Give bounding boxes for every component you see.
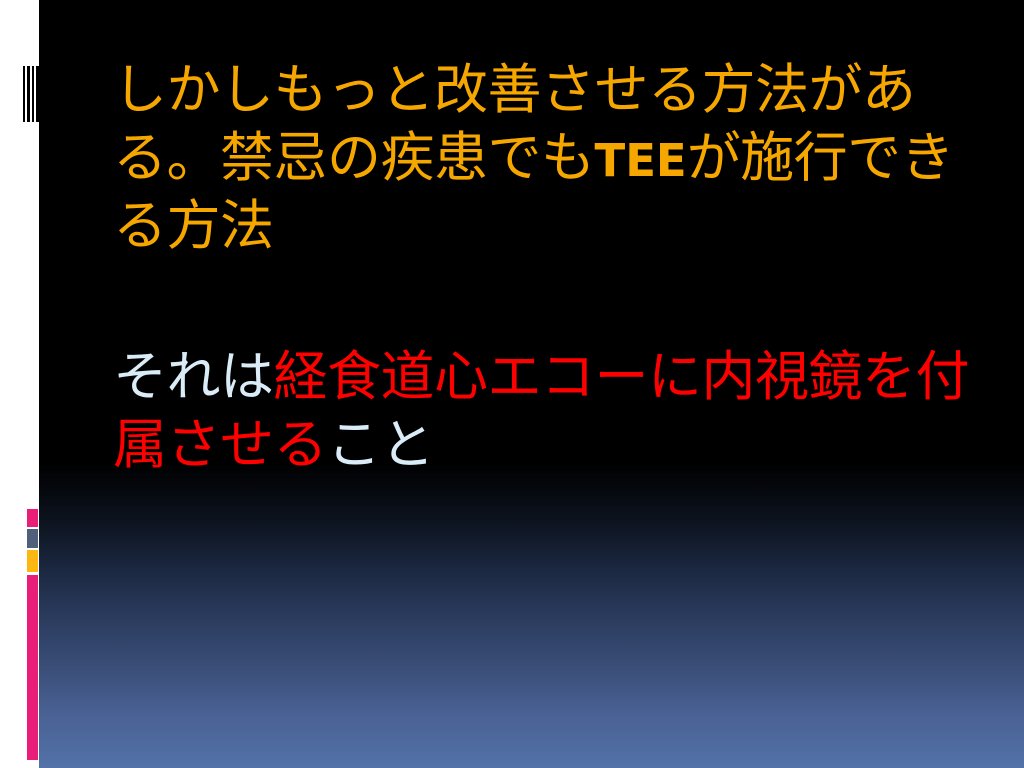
accent-block-pink-top: [27, 509, 38, 527]
paragraph-spacer: [113, 259, 973, 343]
barcode-bar-1: [23, 66, 25, 122]
paragraph-blue-red: それは経食道心エコーに内視鏡を付属させること: [113, 343, 973, 479]
barcode-bar-4: [36, 66, 39, 122]
accent-block-pink-long: [27, 575, 38, 760]
paragraph-blue-segment-a: それは: [113, 345, 274, 408]
accent-block-gold: [27, 550, 38, 572]
barcode-stripes-decoration: [23, 66, 39, 122]
slide-canvas: しかしもっと改善させる方法がある。禁忌の疾患でもTEEが施行できる方法 それは経…: [0, 0, 1024, 768]
paragraph-blue-segment-b: こと: [327, 413, 434, 476]
slide-body-text: しかしもっと改善させる方法がある。禁忌の疾患でもTEEが施行できる方法 それは経…: [113, 56, 973, 479]
paragraph-orange-latin-tee: TEE: [595, 134, 687, 187]
barcode-bar-2: [27, 66, 30, 122]
barcode-bar-3: [32, 66, 34, 122]
paragraph-orange: しかしもっと改善させる方法がある。禁忌の疾患でもTEEが施行できる方法: [113, 56, 973, 259]
accent-block-slate: [27, 529, 38, 548]
